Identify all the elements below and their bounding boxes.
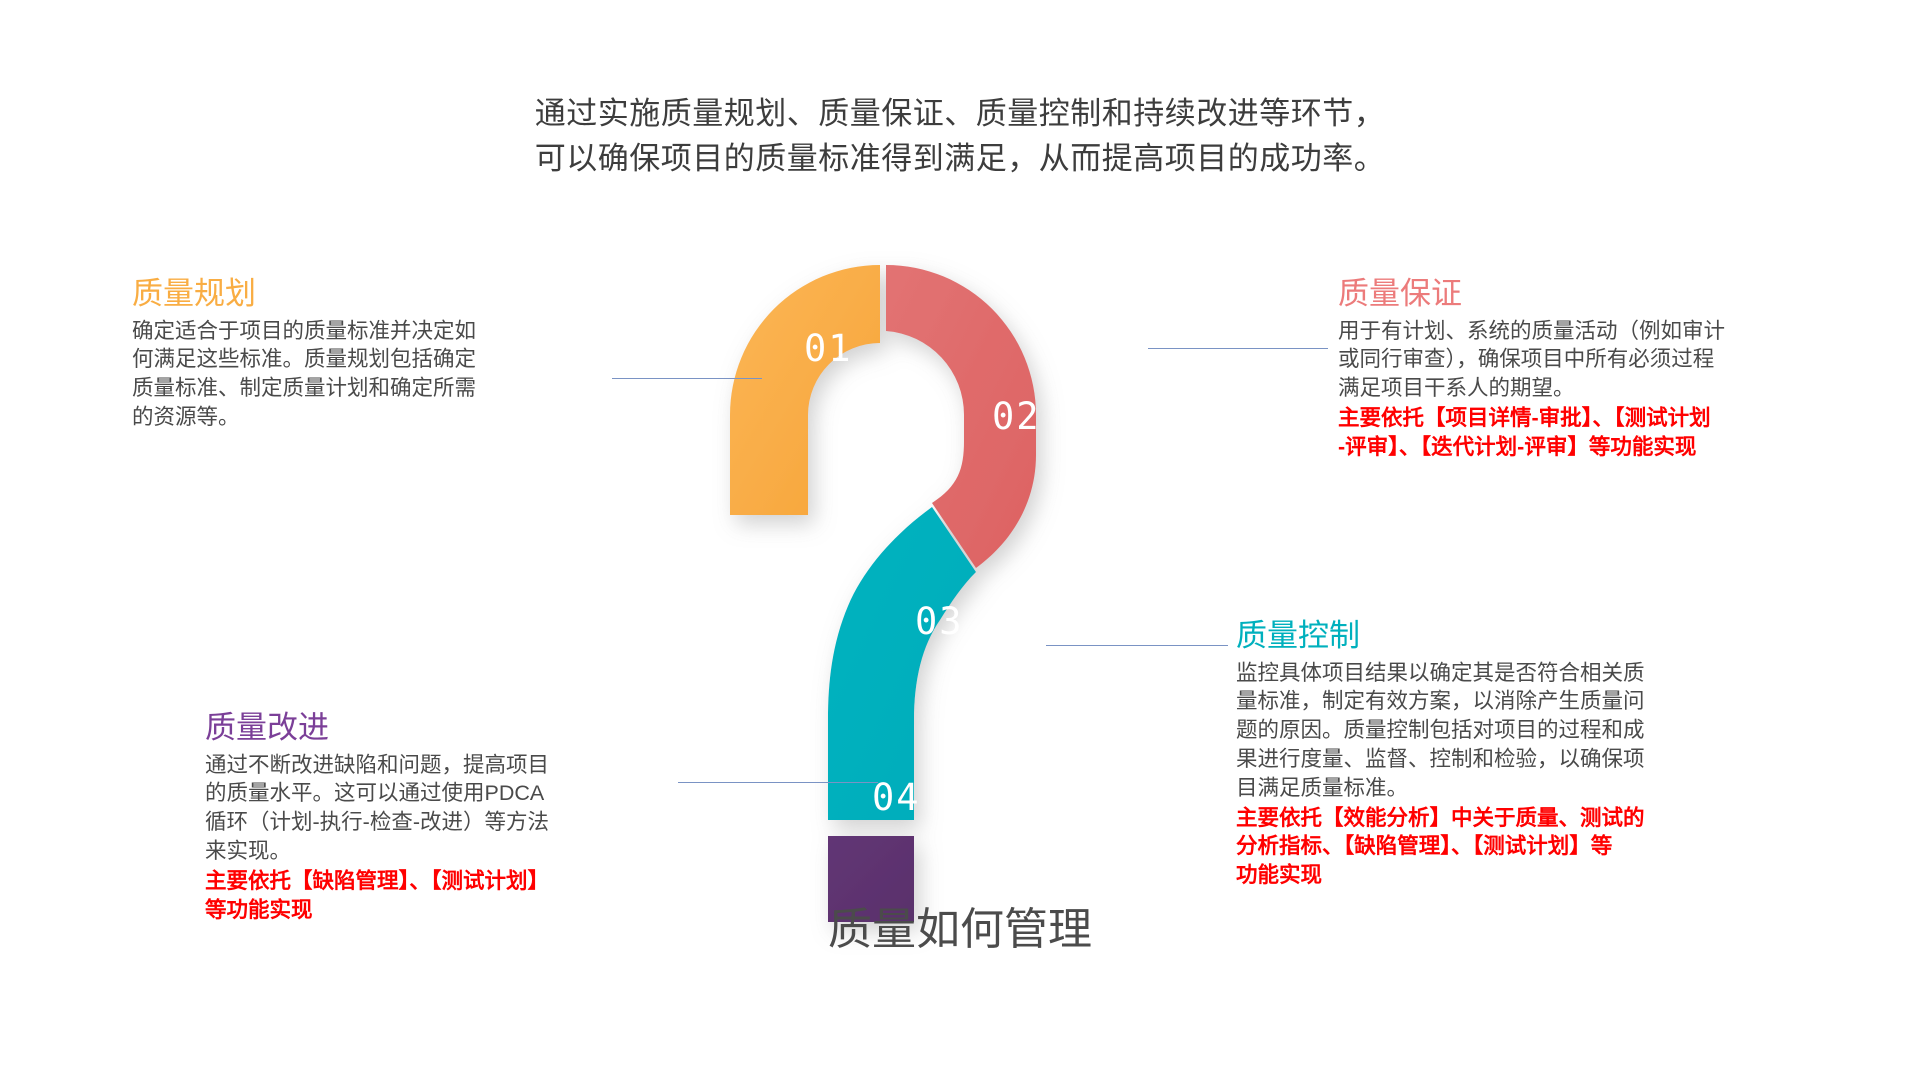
panel-quality-assurance: 质量保证 用于有计划、系统的质量活动（例如审计 或同行审查），确保项目中所有必须… bbox=[1338, 276, 1850, 462]
page-title: 通过实施质量规划、质量保证、质量控制和持续改进等环节， 可以确保项目的质量标准得… bbox=[0, 92, 1920, 182]
panel-planning-heading: 质量规划 bbox=[132, 276, 600, 312]
connector-line-01 bbox=[612, 378, 762, 379]
segment-03-shape bbox=[828, 507, 976, 820]
panel-assurance-note: 主要依托【项目详情-审批】、【测试计划 -评审】、【迭代计划-评审】等功能实现 bbox=[1338, 404, 1850, 462]
question-mark-diagram: 01 02 03 04 bbox=[700, 250, 1220, 870]
panel-control-body: 监控具体项目结果以确定其是否符合相关质 量标准，制定有效方案，以消除产生质量问 … bbox=[1236, 659, 1788, 803]
title-line-2: 可以确保项目的质量标准得到满足，从而提高项目的成功率。 bbox=[0, 137, 1920, 182]
connector-line-03 bbox=[1046, 645, 1228, 646]
panel-quality-planning: 质量规划 确定适合于项目的质量标准并决定如 何满足这些标准。质量规划包括确定 质… bbox=[132, 276, 600, 432]
panel-planning-body: 确定适合于项目的质量标准并决定如 何满足这些标准。质量规划包括确定 质量标准、制… bbox=[132, 317, 600, 432]
title-line-1: 通过实施质量规划、质量保证、质量控制和持续改进等环节， bbox=[0, 92, 1920, 137]
connector-line-02 bbox=[1148, 348, 1328, 349]
segment-04-number: 04 bbox=[872, 776, 921, 819]
panel-improve-body: 通过不断改进缺陷和问题，提高项目 的质量水平。这可以通过使用PDCA 循环（计划… bbox=[205, 751, 675, 866]
panel-improve-heading: 质量改进 bbox=[205, 710, 675, 746]
segment-03-number: 03 bbox=[915, 600, 964, 643]
panel-quality-control: 质量控制 监控具体项目结果以确定其是否符合相关质 量标准，制定有效方案，以消除产… bbox=[1236, 618, 1788, 890]
panel-assurance-heading: 质量保证 bbox=[1338, 276, 1850, 312]
segment-01-number: 01 bbox=[804, 327, 853, 370]
panel-assurance-body: 用于有计划、系统的质量活动（例如审计 或同行审查），确保项目中所有必须过程 满足… bbox=[1338, 317, 1850, 403]
diagram-caption: 质量如何管理 bbox=[0, 893, 1920, 957]
segment-01-shape bbox=[730, 265, 880, 515]
segment-02-number: 02 bbox=[992, 395, 1041, 438]
panel-control-note: 主要依托【效能分析】中关于质量、测试的 分析指标、【缺陷管理】、【测试计划】等 … bbox=[1236, 804, 1788, 890]
panel-control-heading: 质量控制 bbox=[1236, 618, 1788, 654]
connector-line-04 bbox=[678, 782, 878, 783]
